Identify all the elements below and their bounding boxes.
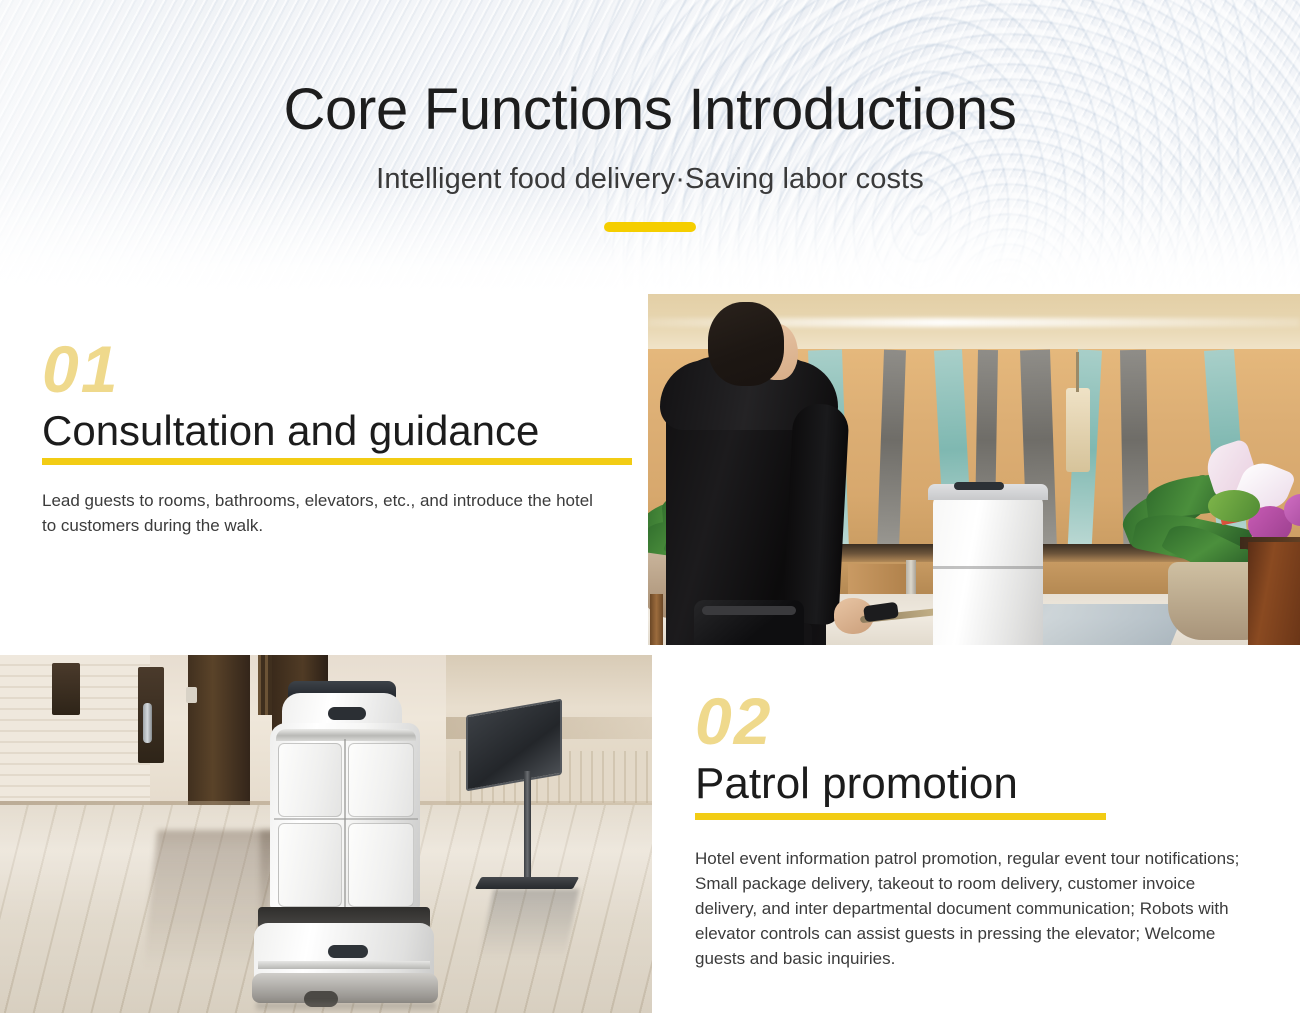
section-01-body: Lead guests to rooms, bathrooms, elevato… <box>42 489 602 537</box>
robot-base-chassis <box>252 973 438 1003</box>
wall-switch-plate <box>186 687 197 703</box>
lobby-robot-door-seam <box>933 566 1043 569</box>
sign-stand-pole <box>524 771 531 883</box>
guest-head-hair <box>708 302 784 386</box>
robot-compartment-door-3 <box>278 823 342 907</box>
section-01-heading: Consultation and guidance <box>42 407 632 454</box>
robot-compartment-door-1 <box>278 743 342 817</box>
robot-compartment-door-4 <box>348 823 414 907</box>
guest-arm <box>782 403 849 626</box>
lobby-robot-sensor-strip <box>954 482 1004 490</box>
sign-stand-base <box>475 877 579 889</box>
door-handle <box>143 703 152 743</box>
lobby-wood-desk <box>1248 542 1300 645</box>
robot-lower-chrome-trim <box>258 961 430 969</box>
lobby-service-robot-body <box>933 494 1043 645</box>
section-01-number: 01 <box>42 338 632 401</box>
hallway-dark-door <box>188 655 250 805</box>
section-02-number: 02 <box>695 690 1261 753</box>
robot-chrome-trim <box>276 729 416 741</box>
robot-door-seam-horizontal <box>274 818 418 820</box>
lobby-pendant-lamp <box>1066 388 1090 472</box>
sign-stand-reflection <box>479 889 580 959</box>
robot-compartment-door-2 <box>348 743 414 817</box>
page-subtitle: Intelligent food delivery·Saving labor c… <box>0 163 1300 196</box>
section-01-underline <box>42 458 632 465</box>
lobby-left-railing <box>650 594 663 645</box>
section-02-body: Hotel event information patrol promotion… <box>695 846 1255 972</box>
page-title: Core Functions Introductions <box>0 80 1300 141</box>
header-banner <box>0 0 1300 294</box>
hotel-lobby-guest-photo <box>648 294 1300 645</box>
lobby-pendant-cord <box>1076 352 1079 392</box>
hotel-hallway-robot-photo <box>0 655 652 1013</box>
wall-recess-1 <box>52 663 80 715</box>
robot-door-seam-vertical <box>344 739 346 909</box>
robot-front-sensor-strip <box>328 707 366 720</box>
section-01: 01 Consultation and guidance Lead guests… <box>42 338 632 538</box>
title-accent-bar <box>604 222 696 232</box>
robot-floor-reflection <box>256 1003 436 1013</box>
green-foliage-cluster <box>1208 490 1260 522</box>
section-02: 02 Patrol promotion Hotel event informat… <box>695 690 1261 971</box>
robot-lower-sensor-strip <box>328 945 368 958</box>
briefcase-strap <box>702 606 796 615</box>
poster-page: Core Functions Introductions Intelligent… <box>0 0 1300 1013</box>
section-02-underline <box>695 813 1106 820</box>
section-02-heading: Patrol promotion <box>695 759 1261 808</box>
